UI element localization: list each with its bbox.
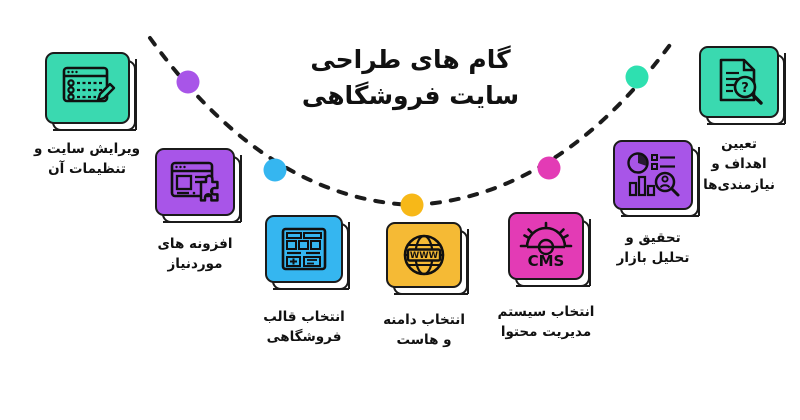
caption-line: اهداف و [703,154,775,174]
card-goals-requirements[interactable]: ? [699,46,779,118]
card-shadow-right [775,53,786,124]
caption-line: انتخاب دامنه [383,310,465,330]
caption-line: و هاست [383,330,465,350]
card-wrap-goals-requirements: ? [699,46,779,118]
card-shadow-bottom [273,279,349,290]
caption-line: تحلیل بازار [617,248,690,268]
card-shadow-bottom [707,114,785,125]
caption-line: انتخاب قالب [263,307,345,327]
card-wrap-market-research [613,140,693,210]
gear-cms-icon: CMS [519,221,573,271]
caption-goals-requirements: تعیین اهداف و نیازمندی‌ها [703,134,775,195]
caption-line: نیازمندی‌ها [703,175,775,195]
card-cms-choice[interactable]: CMS [508,212,584,280]
caption-line: مدیریت محتوا [498,322,595,342]
card-required-plugins[interactable] [155,148,235,216]
step-cms-choice[interactable]: CMS انتخاب سیستم مدیریت محتوا [488,212,604,343]
card-shadow-bottom [516,276,590,287]
page-title: گام های طراحی سایت فروشگاهی [283,42,538,115]
form-pencil-icon [58,63,116,113]
layout-template-icon [277,225,331,273]
card-market-research[interactable] [613,140,693,210]
caption-line: تعیین [703,134,775,154]
caption-line: موردنیاز [158,254,233,274]
question-mark-glyph: ? [741,81,749,96]
card-shadow-right [458,229,469,294]
card-shadow-right [339,222,350,289]
document-search-icon: ? [711,56,767,108]
www-label: WWW [410,251,439,261]
step-goals-requirements[interactable]: ? تعیین اهداف و نیازمندی‌ها [685,46,793,195]
caption-domain-host: انتخاب دامنه و هاست [383,310,465,351]
caption-required-plugins: افزونه های موردنیاز [158,234,233,275]
card-shadow-right [231,155,242,222]
caption-shop-template: انتخاب قالب فروشگاهی [263,307,345,348]
caption-line: افزونه های [158,234,233,254]
dot-teal [626,66,649,89]
card-shadow-bottom [53,120,136,131]
card-site-editing[interactable] [45,52,130,124]
card-shadow-bottom [163,212,241,223]
card-shadow-bottom [394,284,468,295]
card-wrap-shop-template [265,215,343,283]
card-wrap-domain-host: WWW [386,222,462,288]
dot-pink [538,157,561,180]
caption-site-editing: ویرایش سایت و تنظیمات آن [34,139,140,180]
card-shadow-bottom [621,206,699,217]
card-wrap-site-editing [45,52,130,124]
card-domain-host[interactable]: WWW [386,222,462,288]
caption-cms-choice: انتخاب سیستم مدیریت محتوا [498,302,595,343]
globe-www-icon: WWW [398,231,450,279]
caption-line: فروشگاهی [263,327,345,347]
card-shadow-right [580,219,591,286]
step-site-editing[interactable]: ویرایش سایت و تنظیمات آن [22,52,152,180]
step-required-plugins[interactable]: افزونه های موردنیاز [135,148,255,275]
card-wrap-cms-choice: CMS [508,212,584,280]
infographic-canvas: گام های طراحی سایت فروشگاهی [0,0,800,420]
caption-line: انتخاب سیستم [498,302,595,322]
dot-yellow [401,194,424,217]
caption-line: تنظیمات آن [34,159,140,179]
caption-market-research: تحقیق و تحلیل بازار [617,228,690,269]
dot-purple [177,71,200,94]
caption-line: ویرایش سایت و [34,139,140,159]
card-shadow-right [126,59,137,130]
title-line-2: سایت فروشگاهی [283,78,538,114]
card-shop-template[interactable] [265,215,343,283]
step-domain-host[interactable]: WWW انتخاب دامنه و هاست [372,222,476,351]
dot-blue [264,159,287,182]
chart-analytics-icon [624,150,682,200]
step-shop-template[interactable]: انتخاب قالب فروشگاهی [248,215,360,348]
card-wrap-required-plugins [155,148,235,216]
cms-label: CMS [528,252,565,270]
caption-line: تحقیق و [617,228,690,248]
title-line-1: گام های طراحی [283,42,538,78]
browser-puzzle-icon [167,158,223,206]
